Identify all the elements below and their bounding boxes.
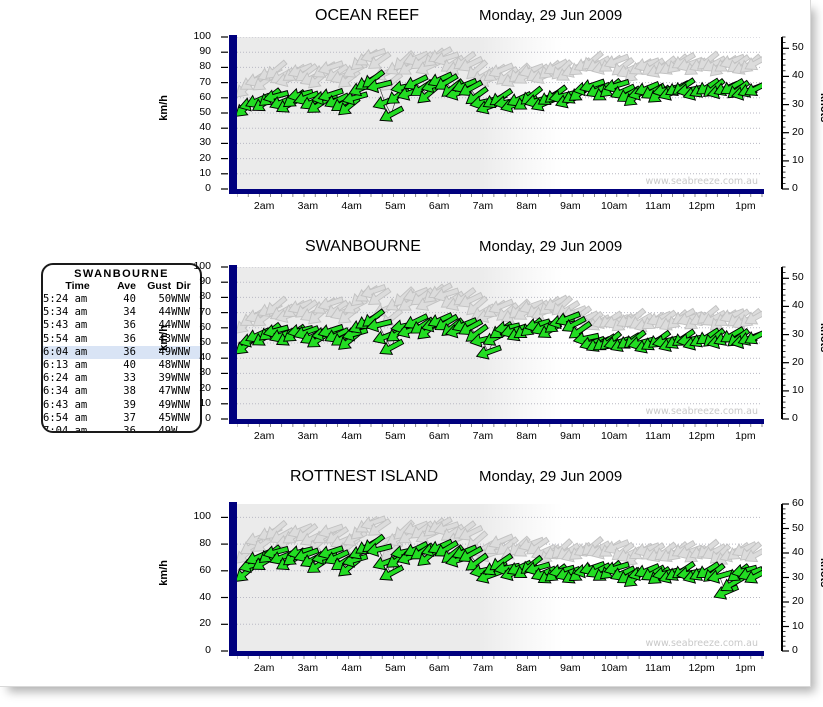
y-axis-bar <box>229 265 237 423</box>
x-tick-label: 10am <box>592 662 636 674</box>
x-tick-label: 2am <box>242 662 286 674</box>
y-tick-label-left: 60 <box>185 91 211 103</box>
y-axis-title-left: km/h <box>158 95 170 121</box>
y-tick-label-left: 60 <box>185 564 211 576</box>
y-tick-label-left: 100 <box>185 260 211 272</box>
y-tick-label-right: 0 <box>792 644 798 656</box>
chart-station-title: OCEAN REEF <box>315 7 419 25</box>
x-tick-label: 7am <box>461 430 505 442</box>
y-tick-label-left: 100 <box>185 30 211 42</box>
y-tick-label-right: 40 <box>792 546 804 558</box>
y-tick-label-left: 70 <box>185 76 211 88</box>
y-axis-title-left: km/h <box>158 325 170 351</box>
y-tick-label-left: 50 <box>185 106 211 118</box>
chart-station-title: SWANBOURNE <box>305 238 421 256</box>
x-tick-label: 11am <box>636 430 680 442</box>
y-tick-label-right: 50 <box>792 522 804 534</box>
y-axis-title-right: knots <box>818 558 823 587</box>
y-tick-label-left: 30 <box>185 136 211 148</box>
plot-area: www.seabreeze.com.au <box>237 267 762 419</box>
y-tick-label-left: 40 <box>185 351 211 363</box>
y-tick-label-left: 0 <box>185 644 211 656</box>
y-tick-label-left: 90 <box>185 45 211 57</box>
y-tick-label-left: 20 <box>185 152 211 164</box>
x-tick-label: 7am <box>461 662 505 674</box>
x-tick-label: 9am <box>548 200 592 212</box>
x-tick-label: 7am <box>461 200 505 212</box>
y-axis-right <box>780 35 796 195</box>
screenshot-root: SWANBOURNE Time Ave Gust Dir 5:24 am4050… <box>0 0 823 707</box>
y-axis-ticks-left <box>215 35 229 195</box>
x-tick-label: 5am <box>373 662 417 674</box>
x-tick-label: 4am <box>330 662 374 674</box>
y-tick-label-right: 30 <box>792 98 804 110</box>
watermark: www.seabreeze.com.au <box>646 406 759 417</box>
y-tick-label-right: 60 <box>792 497 804 509</box>
x-tick-label: 4am <box>330 430 374 442</box>
x-tick-label: 8am <box>505 430 549 442</box>
x-tick-label: 6am <box>417 430 461 442</box>
y-tick-label-left: 50 <box>185 336 211 348</box>
x-tick-label: 8am <box>505 662 549 674</box>
x-tick-label: 3am <box>286 430 330 442</box>
x-tick-label: 3am <box>286 200 330 212</box>
y-tick-label-left: 80 <box>185 60 211 72</box>
x-tick-label: 5am <box>373 200 417 212</box>
y-tick-label-left: 80 <box>185 290 211 302</box>
chart-2: SWANBOURNEMonday, 29 Jun 2009www.seabree… <box>0 236 823 468</box>
plot-area: www.seabreeze.com.au <box>237 504 762 651</box>
y-tick-label-left: 90 <box>185 275 211 287</box>
x-tick-label: 1pm <box>723 200 767 212</box>
y-tick-label-right: 40 <box>792 299 804 311</box>
watermark: www.seabreeze.com.au <box>646 176 759 187</box>
x-tick-label: 2am <box>242 200 286 212</box>
x-tick-label: 9am <box>548 430 592 442</box>
x-tick-label: 8am <box>505 200 549 212</box>
wind-arrow-series <box>237 504 762 651</box>
x-tick-label: 12pm <box>680 200 724 212</box>
y-tick-label-right: 20 <box>792 595 804 607</box>
y-tick-label-left: 100 <box>185 510 211 522</box>
x-tick-label: 5am <box>373 430 417 442</box>
y-tick-label-right: 20 <box>792 356 804 368</box>
x-tick-label: 12pm <box>680 430 724 442</box>
x-tick-label: 11am <box>636 200 680 212</box>
y-axis-title-right: knots <box>818 93 823 122</box>
chart-date-label: Monday, 29 Jun 2009 <box>479 7 622 24</box>
y-axis-title-left: km/h <box>158 560 170 586</box>
y-tick-label-right: 30 <box>792 328 804 340</box>
x-tick-label: 12pm <box>680 662 724 674</box>
y-tick-label-right: 10 <box>792 384 804 396</box>
y-tick-label-right: 0 <box>792 182 798 194</box>
x-tick-label: 9am <box>548 662 592 674</box>
x-tick-label: 10am <box>592 430 636 442</box>
y-tick-label-left: 30 <box>185 366 211 378</box>
x-tick-label: 2am <box>242 430 286 442</box>
y-axis-bar <box>229 35 237 193</box>
y-tick-label-right: 10 <box>792 620 804 632</box>
wind-arrow-series <box>237 267 762 419</box>
x-tick-label: 4am <box>330 200 374 212</box>
x-tick-label: 11am <box>636 662 680 674</box>
y-axis-bar <box>229 502 237 655</box>
chart-header: ROTTNEST ISLANDMonday, 29 Jun 2009 <box>0 466 823 490</box>
x-tick-label: 3am <box>286 662 330 674</box>
y-tick-label-right: 50 <box>792 41 804 53</box>
y-tick-label-left: 20 <box>185 617 211 629</box>
watermark: www.seabreeze.com.au <box>646 638 759 649</box>
y-axis-ticks-left <box>215 502 229 657</box>
y-tick-label-left: 60 <box>185 321 211 333</box>
y-tick-label-left: 10 <box>185 397 211 409</box>
chart-station-title: ROTTNEST ISLAND <box>290 468 438 486</box>
x-tick-label: 1pm <box>723 430 767 442</box>
x-tick-label: 6am <box>417 200 461 212</box>
y-tick-label-right: 50 <box>792 271 804 283</box>
y-tick-label-right: 0 <box>792 412 798 424</box>
x-tick-label: 1pm <box>723 662 767 674</box>
chart-date-label: Monday, 29 Jun 2009 <box>479 238 622 255</box>
y-tick-label-right: 10 <box>792 154 804 166</box>
y-tick-label-left: 0 <box>185 182 211 194</box>
x-tick-label: 6am <box>417 662 461 674</box>
y-tick-label-right: 30 <box>792 571 804 583</box>
y-tick-label-left: 0 <box>185 412 211 424</box>
chart-1: OCEAN REEFMonday, 29 Jun 2009www.seabree… <box>0 5 823 237</box>
chart-header: SWANBOURNEMonday, 29 Jun 2009 <box>0 236 823 260</box>
wind-arrow-series <box>237 37 762 189</box>
y-tick-label-left: 10 <box>185 167 211 179</box>
chart-3: ROTTNEST ISLANDMonday, 29 Jun 2009www.se… <box>0 466 823 693</box>
y-tick-label-left: 20 <box>185 382 211 394</box>
y-axis-title-right: knots <box>818 323 823 352</box>
y-tick-label-left: 80 <box>185 537 211 549</box>
chart-header: OCEAN REEFMonday, 29 Jun 2009 <box>0 5 823 29</box>
chart-date-label: Monday, 29 Jun 2009 <box>479 468 622 485</box>
y-tick-label-right: 20 <box>792 126 804 138</box>
x-tick-label: 10am <box>592 200 636 212</box>
y-axis-ticks-left <box>215 265 229 425</box>
y-tick-label-right: 40 <box>792 69 804 81</box>
plot-area: www.seabreeze.com.au <box>237 37 762 189</box>
y-tick-label-left: 40 <box>185 591 211 603</box>
y-tick-label-left: 40 <box>185 121 211 133</box>
y-tick-label-left: 70 <box>185 306 211 318</box>
y-axis-right <box>780 265 796 425</box>
